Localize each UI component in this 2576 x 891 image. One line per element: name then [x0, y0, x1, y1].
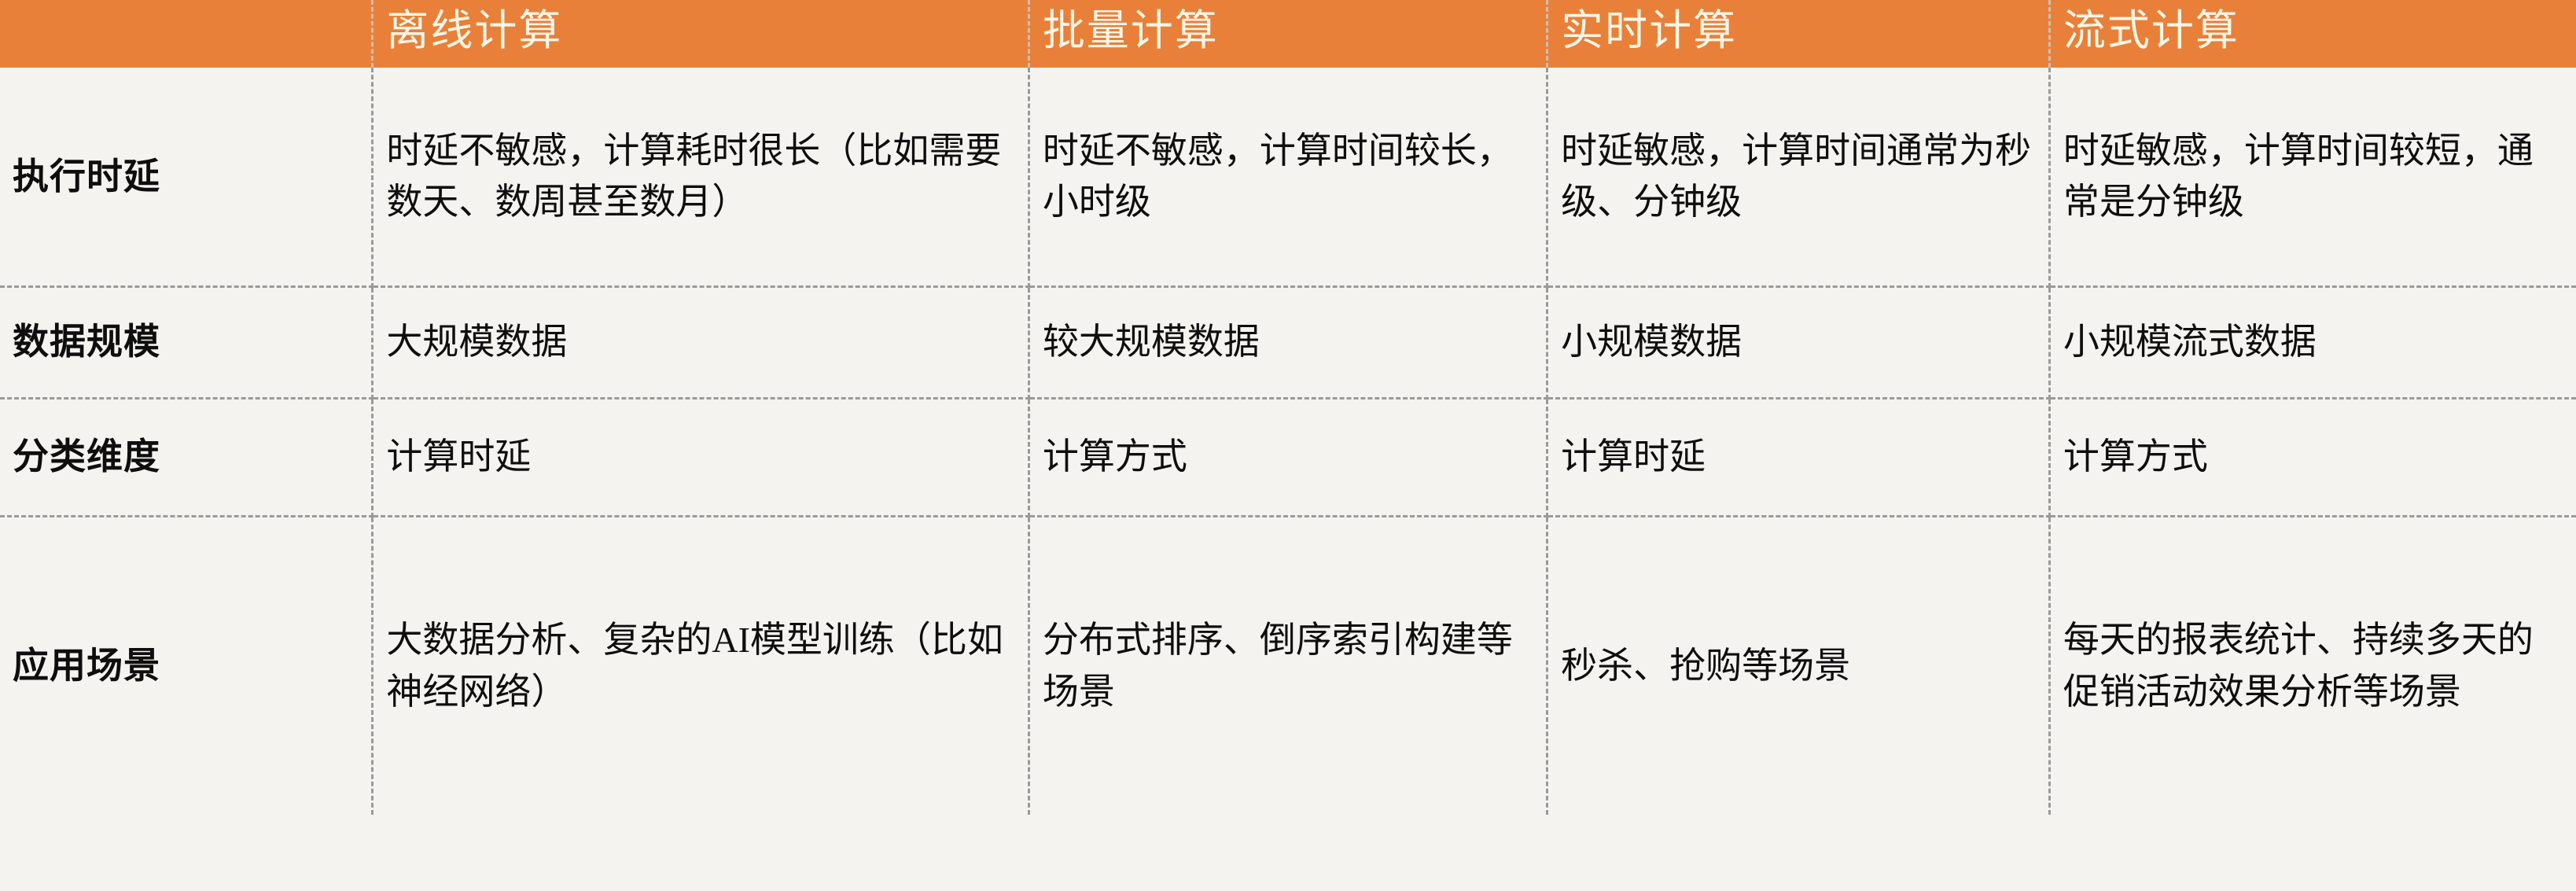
- row-label-execution-latency: 执行时延: [0, 68, 373, 286]
- cell-realtime-data-scale: 小规模数据: [1547, 286, 2050, 398]
- cell-realtime-application-scenario: 秒杀、抢购等场景: [1547, 516, 2050, 815]
- cell-batch-application-scenario: 分布式排序、倒序索引构建等场景: [1029, 516, 1547, 815]
- cell-realtime-classification-dimension: 计算时延: [1547, 398, 2050, 516]
- cell-streaming-application-scenario: 每天的报表统计、持续多天的促销活动效果分析等场景: [2049, 516, 2576, 815]
- header-cell-batch: 批量计算: [1029, 0, 1547, 68]
- cell-batch-classification-dimension: 计算方式: [1029, 398, 1547, 516]
- cell-streaming-classification-dimension: 计算方式: [2049, 398, 2576, 516]
- header-row: 离线计算 批量计算 实时计算 流式计算: [0, 0, 2576, 68]
- cell-streaming-data-scale: 小规模流式数据: [2049, 286, 2576, 398]
- table-row: 分类维度 计算时延 计算方式 计算时延 计算方式: [0, 398, 2576, 516]
- cell-batch-execution-latency: 时延不敏感，计算时间较长，小时级: [1029, 68, 1547, 286]
- computing-models-comparison-table: 离线计算 批量计算 实时计算 流式计算 执行时延 时延不敏感，计算耗时很长（比如…: [0, 0, 2576, 815]
- cell-batch-data-scale: 较大规模数据: [1029, 286, 1547, 398]
- row-label-data-scale: 数据规模: [0, 286, 373, 398]
- header-cell-dimension: [0, 0, 373, 68]
- cell-offline-execution-latency: 时延不敏感，计算耗时很长（比如需要数天、数周甚至数月）: [373, 68, 1029, 286]
- row-label-application-scenario: 应用场景: [0, 516, 373, 815]
- cell-offline-classification-dimension: 计算时延: [373, 398, 1029, 516]
- table-row: 应用场景 大数据分析、复杂的AI模型训练（比如神经网络） 分布式排序、倒序索引构…: [0, 516, 2576, 815]
- header-cell-realtime: 实时计算: [1547, 0, 2050, 68]
- table-header: 离线计算 批量计算 实时计算 流式计算: [0, 0, 2576, 68]
- table-row: 执行时延 时延不敏感，计算耗时很长（比如需要数天、数周甚至数月） 时延不敏感，计…: [0, 68, 2576, 286]
- table-body: 执行时延 时延不敏感，计算耗时很长（比如需要数天、数周甚至数月） 时延不敏感，计…: [0, 68, 2576, 815]
- row-label-classification-dimension: 分类维度: [0, 398, 373, 516]
- cell-realtime-execution-latency: 时延敏感，计算时间通常为秒级、分钟级: [1547, 68, 2050, 286]
- header-cell-streaming: 流式计算: [2049, 0, 2576, 68]
- cell-streaming-execution-latency: 时延敏感，计算时间较短，通常是分钟级: [2049, 68, 2576, 286]
- comparison-table-sheet: 离线计算 批量计算 实时计算 流式计算 执行时延 时延不敏感，计算耗时很长（比如…: [0, 0, 2576, 891]
- table-row: 数据规模 大规模数据 较大规模数据 小规模数据 小规模流式数据: [0, 286, 2576, 398]
- cell-offline-data-scale: 大规模数据: [373, 286, 1029, 398]
- header-cell-offline: 离线计算: [373, 0, 1029, 68]
- cell-offline-application-scenario: 大数据分析、复杂的AI模型训练（比如神经网络）: [373, 516, 1029, 815]
